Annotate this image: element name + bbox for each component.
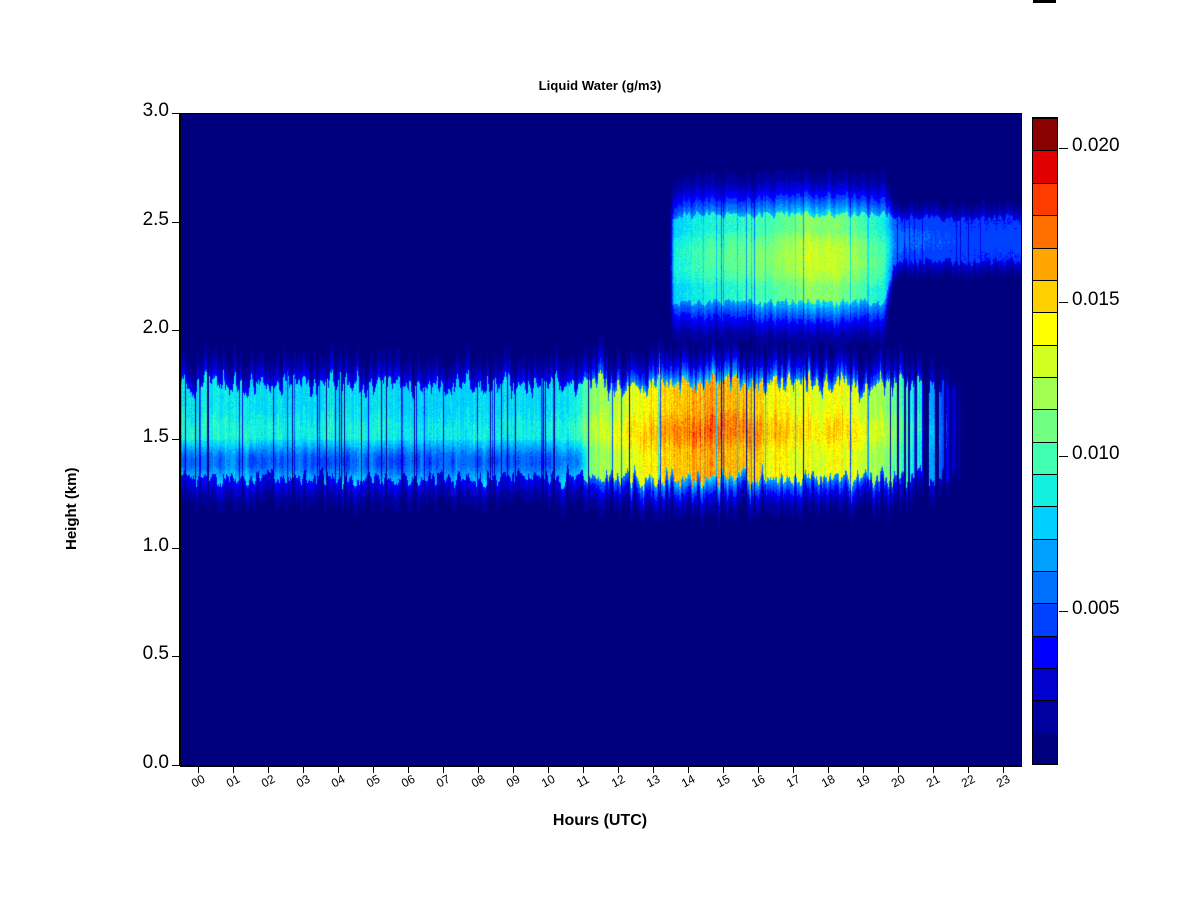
top-edge-artifact xyxy=(1033,0,1056,3)
x-tick-label-01: 01 xyxy=(224,772,242,791)
x-tick-label-23: 23 xyxy=(994,772,1012,791)
y-axis-title: Height (km) xyxy=(63,468,80,551)
x-tick-label-21: 21 xyxy=(924,772,942,791)
colorbar xyxy=(1032,117,1058,765)
x-tick-label-09: 09 xyxy=(504,772,522,791)
x-tick-label-16: 16 xyxy=(749,772,767,791)
colorbar-band-12 xyxy=(1033,345,1057,377)
colorbar-band-16 xyxy=(1033,215,1057,247)
colorbar-band-1 xyxy=(1033,700,1057,732)
colorbar-band-19 xyxy=(1033,118,1057,150)
colorbar-band-11 xyxy=(1033,377,1057,409)
colorbar-tick-0.010 xyxy=(1059,456,1068,457)
x-tick-label-00: 00 xyxy=(189,772,207,791)
y-tick-label-0.5: 0.5 xyxy=(143,643,169,665)
figure-canvas: Liquid Water (g/m3) 0.00.51.01.52.02.53.… xyxy=(0,0,1200,900)
x-tick-label-10: 10 xyxy=(539,772,557,791)
y-tick-2.5 xyxy=(172,222,180,223)
x-tick-label-04: 04 xyxy=(329,772,347,791)
colorbar-label-0.010: 0.010 xyxy=(1072,443,1120,465)
y-tick-2.0 xyxy=(172,330,180,331)
colorbar-tick-0.015 xyxy=(1059,302,1068,303)
colorbar-band-10 xyxy=(1033,409,1057,441)
x-tick-label-03: 03 xyxy=(294,772,312,791)
x-tick-label-11: 11 xyxy=(574,772,592,790)
colorbar-tick-0.020 xyxy=(1059,148,1068,149)
y-tick-label-1.0: 1.0 xyxy=(143,535,169,557)
colorbar-band-13 xyxy=(1033,312,1057,344)
colorbar-band-9 xyxy=(1033,442,1057,474)
colorbar-band-0 xyxy=(1033,733,1057,764)
x-tick-label-18: 18 xyxy=(819,772,837,791)
x-tick-label-15: 15 xyxy=(714,772,732,791)
colorbar-band-2 xyxy=(1033,668,1057,700)
heatmap-image xyxy=(181,114,1021,766)
x-axis-line xyxy=(179,765,1021,766)
y-tick-3.0 xyxy=(172,113,180,114)
colorbar-label-0.020: 0.020 xyxy=(1072,135,1120,157)
x-tick-label-02: 02 xyxy=(259,772,277,791)
heatmap-plot-area xyxy=(180,113,1022,767)
x-tick-label-17: 17 xyxy=(784,772,802,791)
x-tick-label-08: 08 xyxy=(469,772,487,791)
colorbar-band-15 xyxy=(1033,248,1057,280)
colorbar-band-6 xyxy=(1033,539,1057,571)
x-tick-label-20: 20 xyxy=(889,772,907,791)
y-tick-1.0 xyxy=(172,548,180,549)
y-tick-label-0.0: 0.0 xyxy=(143,752,169,774)
x-tick-label-07: 07 xyxy=(434,772,452,791)
x-tick-label-05: 05 xyxy=(364,772,382,791)
plot-title: Liquid Water (g/m3) xyxy=(0,78,1200,93)
y-tick-label-3.0: 3.0 xyxy=(143,100,169,122)
colorbar-band-4 xyxy=(1033,603,1057,635)
colorbar-band-3 xyxy=(1033,636,1057,668)
colorbar-tick-0.005 xyxy=(1059,611,1068,612)
y-tick-1.5 xyxy=(172,439,180,440)
y-tick-0.5 xyxy=(172,656,180,657)
x-axis-title: Hours (UTC) xyxy=(180,812,1020,830)
colorbar-band-7 xyxy=(1033,506,1057,538)
colorbar-band-14 xyxy=(1033,280,1057,312)
x-tick-label-06: 06 xyxy=(399,772,417,791)
colorbar-label-0.005: 0.005 xyxy=(1072,598,1120,620)
colorbar-band-5 xyxy=(1033,571,1057,603)
colorbar-label-0.015: 0.015 xyxy=(1072,289,1120,311)
x-tick-label-22: 22 xyxy=(959,772,977,791)
x-tick-label-13: 13 xyxy=(644,772,662,791)
y-tick-label-1.5: 1.5 xyxy=(143,426,169,448)
y-tick-label-2.0: 2.0 xyxy=(143,317,169,339)
x-tick-label-14: 14 xyxy=(679,772,697,791)
colorbar-band-17 xyxy=(1033,183,1057,215)
y-tick-0.0 xyxy=(172,765,180,766)
colorbar-band-8 xyxy=(1033,474,1057,506)
x-tick-label-19: 19 xyxy=(854,772,872,791)
x-tick-label-12: 12 xyxy=(609,772,627,791)
colorbar-band-18 xyxy=(1033,150,1057,182)
y-tick-label-2.5: 2.5 xyxy=(143,209,169,231)
